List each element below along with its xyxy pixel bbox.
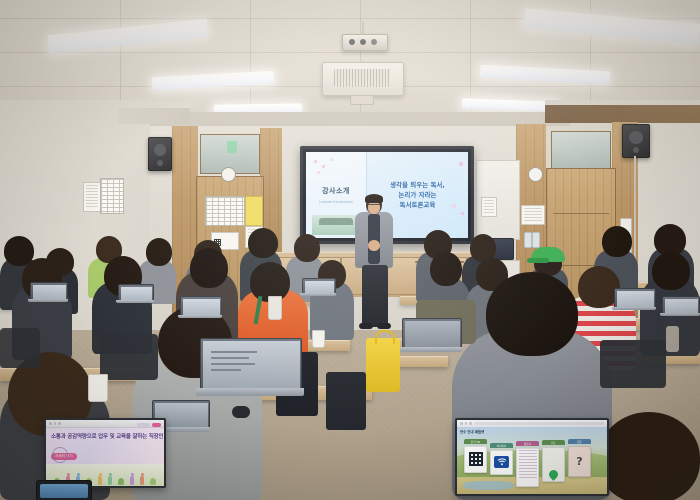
presenter-hands: [368, 240, 380, 251]
padlet-column-header: 와이파이: [490, 443, 513, 448]
padlet-column[interactable]: 와이파이: [490, 443, 513, 475]
wall-speaker-left: [148, 137, 172, 171]
attendee-head: [190, 248, 228, 288]
board-paper: [481, 197, 497, 217]
laptop[interactable]: [28, 282, 68, 302]
padlet-column-label: 활동지: [524, 442, 531, 446]
padlet-column[interactable]: 활동지: [516, 441, 539, 487]
attendee-head: [430, 252, 462, 286]
wall-notice-right: [521, 205, 545, 225]
padlet-canvas[interactable]: 연수 안내 패들렛 출석 QR 와이파이: [457, 427, 607, 494]
laptop-open[interactable]: [196, 338, 304, 396]
laptop-padlet[interactable]: 연수 안내 패들렛 출석 QR 와이파이: [455, 418, 609, 496]
padlet-column[interactable]: 질문 ?: [568, 439, 591, 477]
green-cap-brim: [527, 258, 549, 263]
laptop[interactable]: [178, 296, 222, 318]
slide-line-3: 독서토론교육: [400, 201, 436, 209]
nav-pill[interactable]: [137, 423, 150, 427]
attendee-head: [146, 238, 172, 266]
padlet-column-header: 지도: [542, 440, 565, 445]
slide-line-1: 생각을 틔우는 독서,: [390, 181, 445, 189]
padlet-column-label: 지도: [551, 441, 556, 445]
slide-line-2: 논리가 자라는: [398, 191, 436, 199]
wall-clock-right: [528, 167, 543, 182]
attendee-front-head: [598, 412, 700, 500]
ac-grill: [334, 69, 390, 87]
question-mark-icon: ?: [576, 456, 582, 467]
padlet-column[interactable]: 출석 QR: [464, 439, 487, 473]
slide-building-illustration: [312, 215, 360, 235]
ceiling-soffit-left: [118, 108, 190, 124]
webpage-hero-text: 소통과 공감역량으로 업무 및 교육을 잘하는 직장인: [51, 434, 163, 441]
presenter-shoe: [377, 323, 391, 329]
door-schedule: [205, 196, 245, 226]
yellow-tote-bag: [366, 338, 400, 392]
note-text-lines: [519, 450, 537, 480]
chair: [100, 334, 158, 380]
attendee-head: [248, 228, 278, 258]
attendee-head: [652, 252, 690, 290]
water-bottle: [532, 232, 540, 248]
laptop-webpage[interactable]: 소통과 공감역량으로 업무 및 교육을 잘하는 직장인 자세히 보기: [44, 418, 166, 488]
login-button[interactable]: [152, 423, 161, 427]
laptop-open[interactable]: [400, 318, 462, 352]
wall-schedule-left: [100, 178, 124, 214]
presenter-shoe: [359, 323, 373, 329]
attendee-head: [294, 234, 320, 262]
padlet-column-label: 질문: [577, 440, 582, 444]
paper-cup: [312, 330, 325, 348]
wall-notice-left: [83, 182, 101, 212]
chair: [0, 328, 40, 368]
door-window-right: [551, 131, 611, 169]
presenter-trousers: [362, 265, 388, 327]
presenter-hair: [365, 194, 383, 203]
padlet-card[interactable]: [542, 447, 565, 482]
browser-chrome: [46, 420, 164, 428]
presenter-glasses: [368, 204, 380, 208]
phone[interactable]: [36, 480, 92, 500]
padlet-card[interactable]: [464, 446, 487, 473]
padlet-column-header: 질문: [568, 439, 591, 444]
wall-speaker-right: [622, 124, 650, 158]
paper-cup: [88, 374, 108, 402]
ceiling-projector: [342, 34, 388, 51]
address-bar[interactable]: [474, 422, 605, 426]
padlet-column-label: 와이파이: [497, 444, 507, 448]
padlet-column-header: 출석 QR: [464, 439, 487, 444]
mouse[interactable]: [232, 406, 250, 418]
laptop[interactable]: [660, 296, 700, 316]
padlet-card[interactable]: [516, 448, 539, 487]
ceiling-soffit-right: [545, 105, 700, 123]
slide-left-subtitle: Lecturer Introduction: [319, 200, 353, 204]
laptop[interactable]: [300, 278, 336, 296]
tote-handle: [375, 330, 395, 344]
padlet-column-label: 출석 QR: [471, 440, 480, 444]
ac-sensor: [350, 95, 374, 105]
classroom-photo: 강사소개 Lecturer Introduction 생각을 틔우는 독서, 논…: [0, 0, 700, 500]
padlet-column-header: 활동지: [516, 441, 539, 446]
laptop[interactable]: [116, 284, 154, 303]
ceiling-soffit: [150, 112, 570, 126]
hero-bicycle-icon: [52, 447, 68, 463]
chair: [600, 340, 666, 388]
map-pin-icon: [547, 468, 560, 481]
padlet-card[interactable]: ?: [568, 446, 591, 477]
backpack: [326, 372, 366, 430]
tumbler: [268, 296, 282, 320]
attendee-front-head: [486, 272, 578, 356]
laptop[interactable]: [612, 288, 656, 310]
slide-left-title: 강사소개: [322, 186, 350, 196]
attendee-head: [602, 226, 632, 257]
water-bottle: [524, 232, 532, 248]
padlet-card[interactable]: [490, 450, 513, 475]
webpage-hero: 소통과 공감역량으로 업무 및 교육을 잘하는 직장인 자세히 보기: [46, 428, 164, 464]
wall-clock-left: [221, 167, 236, 182]
padlet-column[interactable]: 지도: [542, 440, 565, 482]
qr-code-icon: [469, 452, 483, 466]
wall-poster-yellow: [245, 196, 263, 226]
padlet-title: 연수 안내 패들렛: [460, 429, 484, 434]
tumbler: [666, 326, 679, 352]
wifi-icon: [494, 456, 509, 468]
presenter-shirt: [368, 214, 380, 264]
